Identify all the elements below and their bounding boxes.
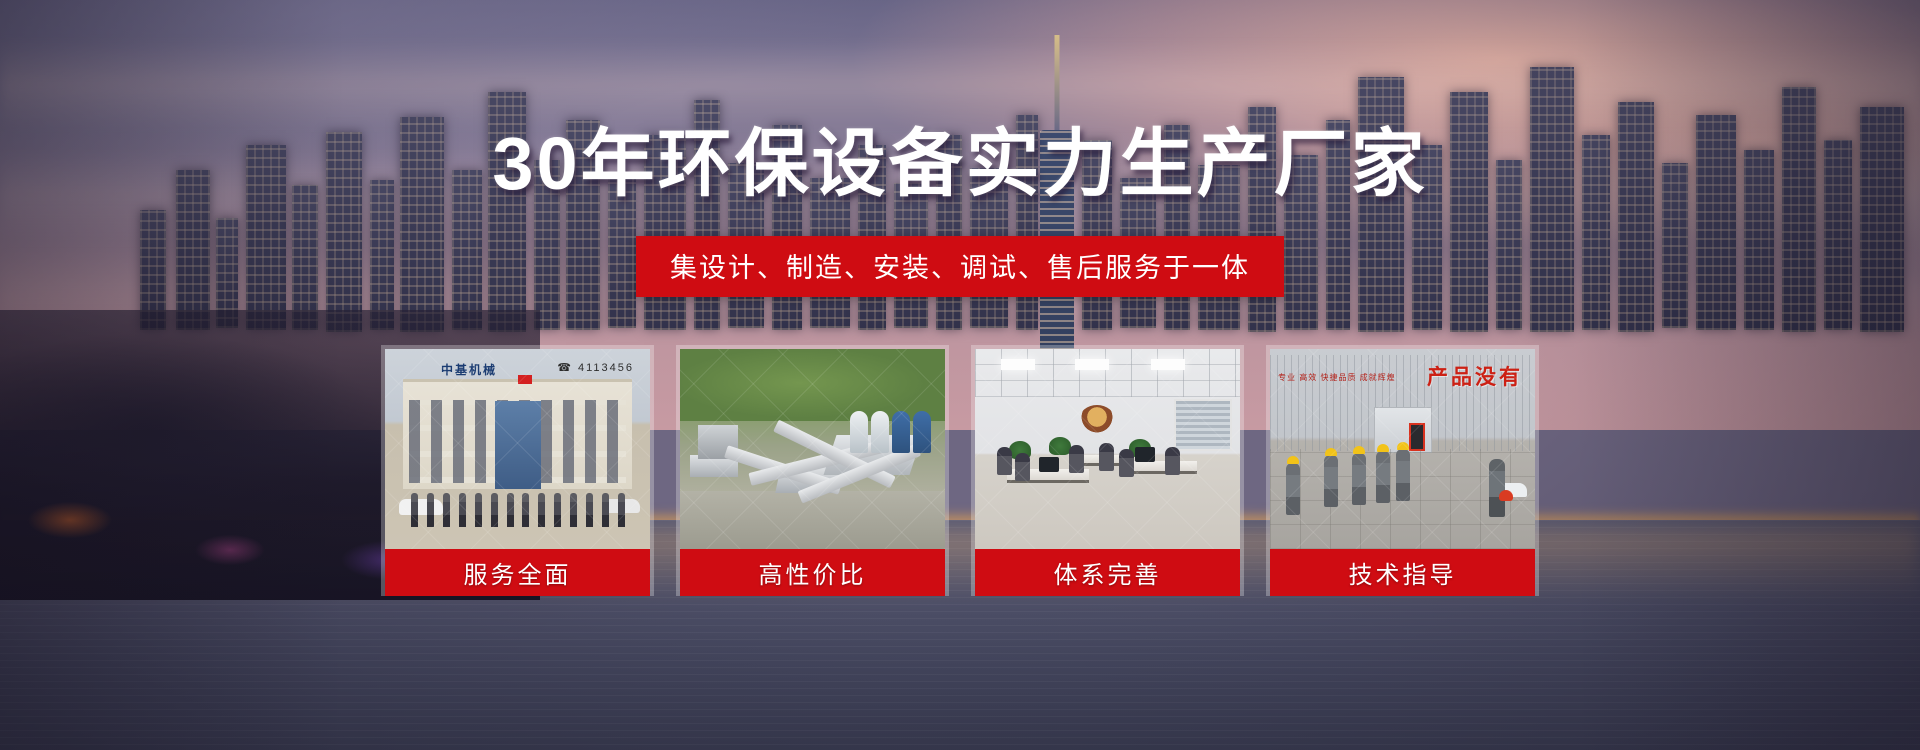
card-image-office-building: 中基机械 ☎ 4113456 (385, 349, 650, 549)
card-caption: 体系完善 (975, 549, 1240, 596)
building-sign-text: 中基机械 (441, 361, 497, 378)
feature-card[interactable]: 中基机械 ☎ 4113456 服务全面 (381, 345, 654, 596)
factory-slogan-text: 专业 高效 快捷品质 成就辉煌 (1278, 373, 1396, 383)
card-image-office-interior (975, 349, 1240, 549)
feature-card[interactable]: 体系完善 (971, 345, 1244, 596)
card-image-plant-aerial (680, 349, 945, 549)
card-caption: 高性价比 (680, 549, 945, 596)
factory-sign-text: 产品没有 (1427, 361, 1523, 391)
flag-icon (518, 375, 532, 384)
building-phone-text: ☎ 4113456 (557, 361, 634, 374)
page-title: 30年环保设备实力生产厂家 (0, 104, 1920, 211)
card-caption: 技术指导 (1270, 549, 1535, 596)
feature-card[interactable]: 产品没有 专业 高效 快捷品质 成就辉煌 技术指导 (1266, 345, 1539, 596)
subtitle-badge: 集设计、制造、安装、调试、售后服务于一体 (636, 236, 1284, 297)
red-helmet-icon (1499, 490, 1513, 501)
card-image-factory-training: 产品没有 专业 高效 快捷品质 成就辉煌 (1270, 349, 1535, 549)
card-caption: 服务全面 (385, 549, 650, 596)
feature-card[interactable]: 高性价比 (676, 345, 949, 596)
feature-card-list: 中基机械 ☎ 4113456 服务全面 (381, 345, 1539, 596)
wall-logo-icon (1079, 405, 1115, 435)
hero-banner: 30年环保设备实力生产厂家 集设计、制造、安装、调试、售后服务于一体 中基机械 … (0, 0, 1920, 750)
